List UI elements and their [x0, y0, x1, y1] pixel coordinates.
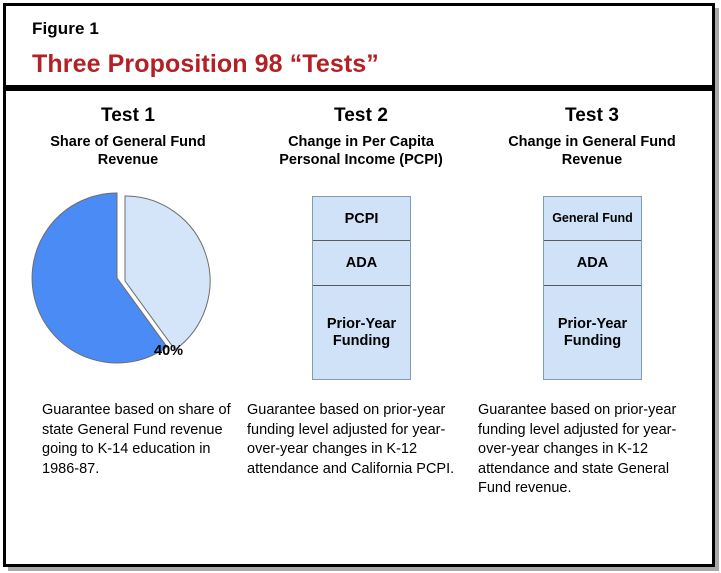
bar-segment-ada: ADA	[544, 241, 641, 286]
figure-border-box: Figure 1 Three Proposition 98 “Tests” Te…	[3, 3, 715, 567]
figure-title: Three Proposition 98 “Tests”	[32, 50, 379, 79]
test-3-subheading: Change in General Fund Revenue	[478, 134, 706, 169]
figure-body: Test 1 Share of General Fund Revenue 40%…	[6, 91, 712, 564]
test-2-subheading: Change in Per Capita Personal Income (PC…	[247, 134, 475, 169]
frame-shadow-bottom	[8, 567, 719, 571]
test-column-3: Test 3 Change in General Fund Revenue Ge…	[478, 91, 706, 398]
pie-chart-svg	[14, 175, 242, 390]
test-1-caption: Guarantee based on share of state Genera…	[42, 401, 247, 479]
stacked-bar-3: General Fund ADA Prior-Year Funding	[543, 196, 642, 380]
figure-container: Figure 1 Three Proposition 98 “Tests” Te…	[0, 0, 721, 573]
pie-slice-value-label: 40%	[154, 343, 183, 359]
test-1-heading: Test 1	[14, 105, 242, 127]
test-3-stacked-bar: General Fund ADA Prior-Year Funding	[478, 183, 706, 398]
test-column-2: Test 2 Change in Per Capita Personal Inc…	[247, 91, 475, 398]
bar-segment-prior-year-funding: Prior-Year Funding	[544, 286, 641, 379]
test-column-1: Test 1 Share of General Fund Revenue 40%…	[14, 91, 242, 390]
test-3-heading: Test 3	[478, 105, 706, 127]
pie-chart: 40%	[14, 175, 242, 390]
test-2-caption: Guarantee based on prior-year funding le…	[247, 401, 462, 479]
bar-segment-prior-year-funding: Prior-Year Funding	[313, 286, 410, 379]
test-3-caption: Guarantee based on prior-year funding le…	[478, 401, 700, 499]
stacked-bar-2: PCPI ADA Prior-Year Funding	[312, 196, 411, 380]
test-2-heading: Test 2	[247, 105, 475, 127]
figure-number-label: Figure 1	[32, 19, 99, 39]
frame-shadow-right	[715, 8, 719, 571]
test-2-stacked-bar: PCPI ADA Prior-Year Funding	[247, 183, 475, 398]
bar-segment-ada: ADA	[313, 241, 410, 286]
bar-segment-pcpi: PCPI	[313, 197, 410, 241]
test-1-subheading: Share of General Fund Revenue	[14, 134, 242, 169]
figure-header: Figure 1 Three Proposition 98 “Tests”	[6, 6, 712, 85]
bar-segment-general-fund: General Fund	[544, 197, 641, 241]
